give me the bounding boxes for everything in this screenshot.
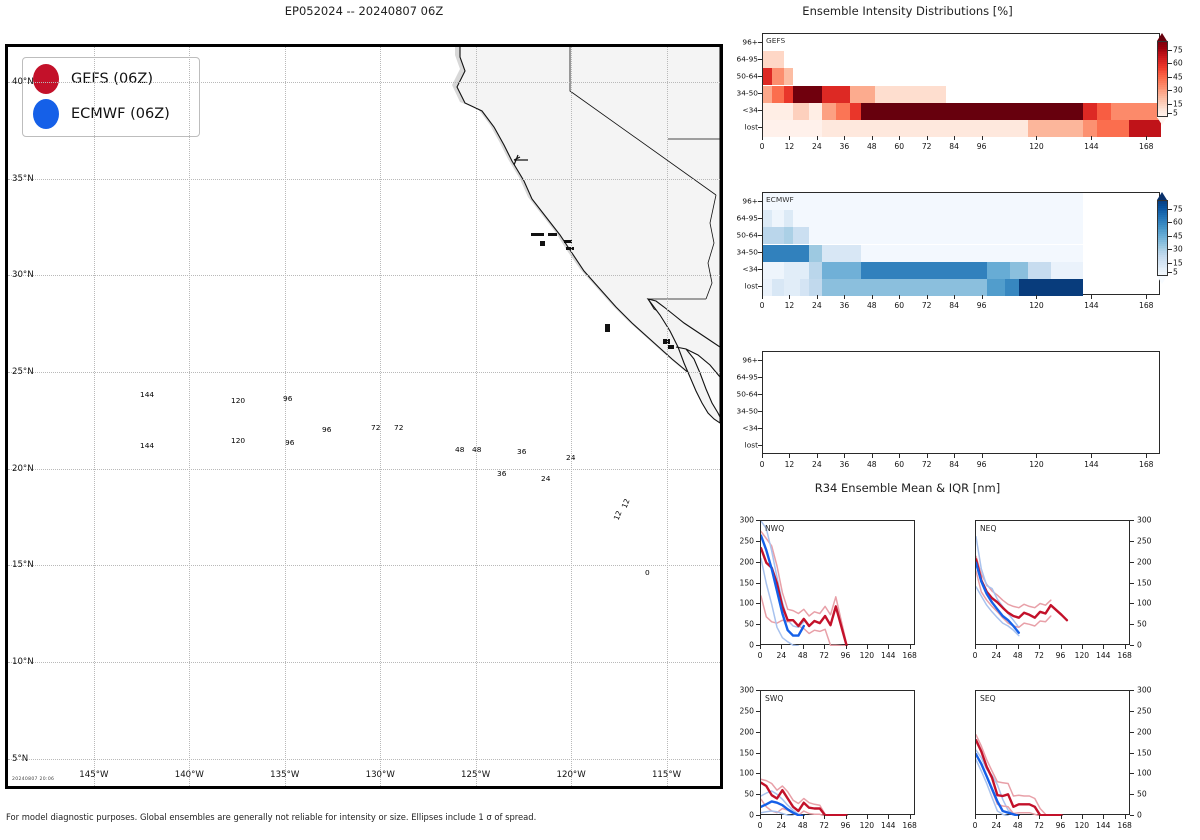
r34-y-label: 50 bbox=[732, 620, 754, 629]
r34-y-tick bbox=[756, 711, 760, 712]
heatmap-x-label: 96 bbox=[977, 460, 987, 469]
heatmap-x-label: 84 bbox=[949, 460, 959, 469]
r34-y-label: 300 bbox=[1137, 516, 1152, 525]
heatmap-cell bbox=[850, 86, 875, 103]
heatmap-x-tick bbox=[899, 295, 900, 299]
heatmap-x-tick bbox=[1036, 136, 1037, 140]
r34-y-tick bbox=[1130, 690, 1134, 691]
heatmap-x-label: 144 bbox=[1084, 301, 1099, 310]
r34-x-label: 144 bbox=[881, 651, 896, 660]
heatmap-x-label: 72 bbox=[922, 460, 932, 469]
r34-y-tick bbox=[756, 753, 760, 754]
heatmap-model-tag: ECMWF bbox=[766, 195, 794, 204]
heatmap-cell bbox=[793, 210, 1083, 227]
r34-x-label: 120 bbox=[860, 821, 875, 830]
r34-x-label: 96 bbox=[841, 821, 851, 830]
heatmap-x-label: 120 bbox=[1029, 142, 1044, 151]
heatmap-cell bbox=[1097, 103, 1111, 120]
heatmap-x-label: 36 bbox=[840, 460, 850, 469]
heatmap-x-tick bbox=[899, 136, 900, 140]
heatmap-x-label: 60 bbox=[894, 301, 904, 310]
r34-x-tick bbox=[1082, 815, 1083, 819]
heatmap-x-tick bbox=[762, 454, 763, 458]
r34-quadrant-neq[interactable]: NEQ bbox=[975, 520, 1130, 645]
heatmap-cell bbox=[1083, 120, 1097, 137]
track-map-panel[interactable]: 144 144 120 120 96 96 96 72 72 48 48 36 … bbox=[5, 44, 723, 789]
heatmap-cell bbox=[875, 86, 946, 103]
r34-x-label: 144 bbox=[881, 821, 896, 830]
map-lon-label: 120°W bbox=[557, 770, 586, 780]
heatmap-x-tick bbox=[762, 295, 763, 299]
heatmap-y-label: 96+ bbox=[720, 196, 758, 205]
r34-x-label: 24 bbox=[777, 821, 787, 830]
heatmap-x-label: 36 bbox=[840, 301, 850, 310]
intensity-colorbar bbox=[1157, 41, 1168, 117]
r34-line-gefs-mean bbox=[976, 559, 1067, 620]
r34-x-tick bbox=[1103, 815, 1104, 819]
heatmap-y-label: <34 bbox=[720, 265, 758, 274]
map-gridline-lat bbox=[8, 565, 720, 566]
map-lat-label: 10°N bbox=[12, 657, 34, 667]
heatmap-y-label: 34-50 bbox=[720, 248, 758, 257]
heatmap-cell bbox=[772, 68, 783, 85]
heatmap-cell bbox=[861, 262, 987, 279]
r34-y-label: 0 bbox=[1137, 641, 1142, 650]
r34-x-label: 48 bbox=[1013, 651, 1023, 660]
r34-x-label: 0 bbox=[758, 821, 763, 830]
heatmap-y-label: 64-95 bbox=[720, 54, 758, 63]
r34-x-label: 168 bbox=[1117, 821, 1132, 830]
heatmap-cell bbox=[772, 210, 783, 227]
heatmap-y-label: 64-95 bbox=[720, 372, 758, 381]
r34-x-label: 48 bbox=[798, 821, 808, 830]
r34-y-label: 50 bbox=[1137, 790, 1147, 799]
heatmap-x-label: 144 bbox=[1084, 460, 1099, 469]
ellipse-label-24b: 24 bbox=[540, 474, 551, 483]
heatmap-y-tick bbox=[758, 235, 762, 236]
dashboard-root: EP052024 -- 20240807 06Z bbox=[0, 0, 1200, 840]
intensity-heatmap-gefs[interactable]: GEFS bbox=[762, 33, 1160, 136]
r34-y-label: 0 bbox=[732, 811, 754, 820]
gefs-swatch-icon bbox=[33, 64, 59, 94]
heatmap-x-label: 84 bbox=[949, 301, 959, 310]
colorbar-extend-up-icon bbox=[1157, 192, 1167, 200]
heatmap-x-label: 0 bbox=[760, 460, 765, 469]
ellipse-label-48a: 48 bbox=[454, 445, 465, 454]
colorbar-tick bbox=[1168, 63, 1172, 64]
heatmap-x-label: 168 bbox=[1139, 460, 1154, 469]
heatmap-x-tick bbox=[1091, 454, 1092, 458]
heatmap-cell bbox=[861, 245, 1083, 262]
ellipse-label-0: 0 bbox=[644, 568, 651, 577]
quadrant-series bbox=[976, 521, 1131, 646]
r34-y-tick bbox=[756, 520, 760, 521]
map-gridline-lon bbox=[189, 47, 190, 786]
intensity-heatmap-empty[interactable] bbox=[762, 351, 1160, 454]
r34-x-label: 24 bbox=[992, 651, 1002, 660]
heatmap-x-tick bbox=[927, 136, 928, 140]
map-gridline-lon bbox=[667, 47, 668, 786]
quadrant-label: NWQ bbox=[765, 524, 784, 533]
r34-y-tick bbox=[1130, 773, 1134, 774]
quadrant-series bbox=[761, 691, 916, 816]
heatmap-x-tick bbox=[817, 295, 818, 299]
heatmap-cell bbox=[822, 86, 849, 103]
heatmap-y-tick bbox=[758, 201, 762, 202]
r34-quadrant-swq[interactable]: SWQ bbox=[760, 690, 915, 815]
r34-y-tick bbox=[1130, 815, 1134, 816]
r34-y-label: 200 bbox=[1137, 557, 1152, 566]
colorbar-label: 30 bbox=[1173, 245, 1183, 254]
map-lat-label: 25°N bbox=[12, 367, 34, 377]
heatmap-x-label: 120 bbox=[1029, 301, 1044, 310]
heatmap-y-label: lost bbox=[720, 282, 758, 291]
r34-y-label: 200 bbox=[1137, 727, 1152, 736]
ellipse-label-144a: 144 bbox=[139, 390, 155, 399]
r34-y-label: 300 bbox=[732, 516, 754, 525]
heatmap-y-tick bbox=[758, 76, 762, 77]
r34-x-tick bbox=[1018, 645, 1019, 649]
heatmap-cell bbox=[763, 210, 772, 227]
ellipse-label-36b: 36 bbox=[496, 469, 507, 478]
ellipse-label-36a: 36 bbox=[516, 447, 527, 456]
heatmap-cell bbox=[1010, 262, 1028, 279]
heatmap-x-tick bbox=[1036, 454, 1037, 458]
r34-x-label: 24 bbox=[777, 651, 787, 660]
heatmap-y-label: 34-50 bbox=[720, 407, 758, 416]
quadrant-series bbox=[761, 521, 916, 646]
heatmap-cell bbox=[784, 227, 793, 244]
map-lat-label: 35°N bbox=[12, 174, 34, 184]
r34-x-label: 0 bbox=[758, 651, 763, 660]
r34-y-label: 0 bbox=[732, 641, 754, 650]
heatmap-cell bbox=[763, 227, 784, 244]
heatmap-y-tick bbox=[758, 42, 762, 43]
heatmap-cell bbox=[793, 227, 809, 244]
map-gridline-lat bbox=[8, 179, 720, 180]
map-lat-label: 30°N bbox=[12, 270, 34, 280]
heatmap-cell bbox=[763, 68, 772, 85]
heatmap-cell bbox=[822, 279, 987, 296]
heatmap-y-tick bbox=[758, 110, 762, 111]
r34-y-tick bbox=[1130, 711, 1134, 712]
heatmap-x-label: 84 bbox=[949, 142, 959, 151]
r34-y-label: 200 bbox=[732, 557, 754, 566]
map-gridline-lon bbox=[94, 47, 95, 786]
r34-y-tick bbox=[1130, 541, 1134, 542]
heatmap-x-tick bbox=[1146, 454, 1147, 458]
colorbar-tick bbox=[1168, 77, 1172, 78]
heatmap-x-label: 24 bbox=[812, 301, 822, 310]
heatmap-cell bbox=[1051, 262, 1083, 279]
r34-y-tick bbox=[1130, 732, 1134, 733]
heatmap-cell bbox=[784, 68, 793, 85]
r34-y-label: 300 bbox=[1137, 686, 1152, 695]
r34-y-tick bbox=[756, 624, 760, 625]
heatmap-y-label: 96+ bbox=[720, 37, 758, 46]
heatmap-cell bbox=[987, 262, 1010, 279]
intensity-heatmap-ecmwf[interactable]: ECMWF bbox=[762, 192, 1160, 295]
intensity-colorbar bbox=[1157, 200, 1168, 276]
r34-y-tick bbox=[756, 603, 760, 604]
r34-y-tick bbox=[1130, 794, 1134, 795]
heatmap-x-label: 72 bbox=[922, 301, 932, 310]
r34-y-tick bbox=[1130, 562, 1134, 563]
r34-x-tick bbox=[867, 815, 868, 819]
ellipse-label-48b: 48 bbox=[471, 445, 482, 454]
heatmap-x-label: 168 bbox=[1139, 142, 1154, 151]
heatmap-cell bbox=[836, 103, 850, 120]
heatmap-x-tick bbox=[927, 454, 928, 458]
r34-y-label: 100 bbox=[1137, 599, 1152, 608]
heatmap-x-label: 60 bbox=[894, 142, 904, 151]
heatmap-cell bbox=[809, 103, 823, 120]
r34-y-tick bbox=[1130, 645, 1134, 646]
heatmap-cell bbox=[763, 103, 793, 120]
heatmap-x-label: 12 bbox=[785, 301, 795, 310]
heatmap-x-tick bbox=[789, 454, 790, 458]
r34-line-gefs-lower bbox=[976, 571, 1051, 627]
r34-y-tick bbox=[756, 690, 760, 691]
heatmap-x-tick bbox=[872, 454, 873, 458]
ellipse-label-96c: 96 bbox=[321, 425, 332, 434]
legend-item-ecmwf: ECMWF (06Z) bbox=[33, 99, 170, 129]
r34-x-label: 48 bbox=[798, 651, 808, 660]
heatmap-y-label: 64-95 bbox=[720, 213, 758, 222]
r34-x-label: 168 bbox=[902, 651, 917, 660]
colorbar-label: 5 bbox=[1173, 267, 1178, 276]
heatmap-cell bbox=[1097, 120, 1129, 137]
r34-section-title: R34 Ensemble Mean & IQR [nm] bbox=[735, 481, 1080, 495]
heatmap-x-tick bbox=[844, 295, 845, 299]
r34-y-tick bbox=[756, 732, 760, 733]
map-gridline-lat bbox=[8, 469, 720, 470]
r34-x-tick bbox=[1082, 645, 1083, 649]
heatmap-cell bbox=[822, 245, 861, 262]
r34-x-label: 96 bbox=[1056, 821, 1066, 830]
r34-x-tick bbox=[1125, 815, 1126, 819]
r34-x-label: 24 bbox=[992, 821, 1002, 830]
r34-y-label: 250 bbox=[732, 706, 754, 715]
r34-x-tick bbox=[760, 645, 761, 649]
r34-x-tick bbox=[910, 815, 911, 819]
ellipse-label-120b: 120 bbox=[230, 436, 246, 445]
heatmap-cell bbox=[809, 262, 823, 279]
heatmap-y-label: 50-64 bbox=[720, 230, 758, 239]
r34-x-tick bbox=[1039, 645, 1040, 649]
r34-x-tick bbox=[760, 815, 761, 819]
r34-x-tick bbox=[975, 645, 976, 649]
heatmap-y-tick bbox=[758, 286, 762, 287]
map-gridline-lon bbox=[285, 47, 286, 786]
colorbar-label: 45 bbox=[1173, 231, 1183, 240]
heatmap-cell bbox=[822, 103, 836, 120]
map-lon-label: 115°W bbox=[652, 770, 681, 780]
r34-x-label: 144 bbox=[1096, 651, 1111, 660]
heatmap-cell bbox=[763, 262, 784, 279]
r34-line-ecmwf-lower bbox=[761, 811, 793, 816]
heatmap-x-tick bbox=[762, 136, 763, 140]
heatmap-y-label: 96+ bbox=[720, 355, 758, 364]
r34-x-label: 144 bbox=[1096, 821, 1111, 830]
r34-x-label: 48 bbox=[1013, 821, 1023, 830]
quadrant-label: SWQ bbox=[765, 694, 783, 703]
r34-y-tick bbox=[1130, 583, 1134, 584]
heatmap-y-tick bbox=[758, 428, 762, 429]
map-lat-label: 5°N bbox=[12, 754, 28, 764]
r34-x-tick bbox=[910, 645, 911, 649]
r34-x-tick bbox=[888, 815, 889, 819]
heatmap-y-label: lost bbox=[720, 441, 758, 450]
colorbar-tick bbox=[1168, 249, 1172, 250]
r34-y-label: 150 bbox=[732, 748, 754, 757]
page-title: EP052024 -- 20240807 06Z bbox=[0, 4, 728, 18]
heatmap-x-tick bbox=[1146, 295, 1147, 299]
colorbar-tick bbox=[1168, 90, 1172, 91]
r34-y-label: 50 bbox=[1137, 620, 1147, 629]
heatmap-cell bbox=[763, 279, 772, 296]
map-gridline-lat bbox=[8, 759, 720, 760]
r34-x-tick bbox=[996, 815, 997, 819]
heatmap-x-label: 96 bbox=[977, 301, 987, 310]
r34-x-label: 168 bbox=[902, 821, 917, 830]
heatmap-x-tick bbox=[872, 136, 873, 140]
legend-label-gefs: GEFS (06Z) bbox=[71, 71, 153, 87]
heatmap-y-tick bbox=[758, 269, 762, 270]
heatmap-cell bbox=[800, 279, 809, 296]
heatmap-cell bbox=[784, 262, 809, 279]
colorbar-extend-down-icon bbox=[1157, 117, 1167, 125]
r34-y-tick bbox=[756, 541, 760, 542]
map-gridline-lon bbox=[571, 47, 572, 786]
heatmap-x-label: 168 bbox=[1139, 301, 1154, 310]
r34-y-tick bbox=[1130, 520, 1134, 521]
r34-y-label: 250 bbox=[1137, 706, 1152, 715]
heatmap-cell bbox=[763, 193, 1083, 210]
heatmap-x-tick bbox=[817, 454, 818, 458]
ellipse-label-144b: 144 bbox=[139, 441, 155, 450]
heatmap-cell bbox=[1028, 262, 1051, 279]
heatmap-y-label: <34 bbox=[720, 424, 758, 433]
r34-x-tick bbox=[1103, 645, 1104, 649]
colorbar-label: 5 bbox=[1173, 108, 1178, 117]
heatmap-cell bbox=[784, 279, 800, 296]
heatmap-y-tick bbox=[758, 93, 762, 94]
heatmap-x-label: 120 bbox=[1029, 460, 1044, 469]
colorbar-tick bbox=[1168, 263, 1172, 264]
r34-x-tick bbox=[888, 645, 889, 649]
r34-quadrant-seq[interactable]: SEQ bbox=[975, 690, 1130, 815]
heatmap-y-tick bbox=[758, 445, 762, 446]
intensity-section-title: Ensemble Intensity Distributions [%] bbox=[735, 4, 1080, 18]
heatmap-x-tick bbox=[872, 295, 873, 299]
legend-label-ecmwf: ECMWF (06Z) bbox=[71, 106, 170, 122]
map-lat-label: 15°N bbox=[12, 560, 34, 570]
heatmap-x-tick bbox=[1036, 295, 1037, 299]
heatmap-x-tick bbox=[1091, 295, 1092, 299]
heatmap-x-label: 96 bbox=[977, 142, 987, 151]
r34-y-label: 100 bbox=[732, 769, 754, 778]
r34-y-tick bbox=[1130, 753, 1134, 754]
r34-x-label: 72 bbox=[1034, 651, 1044, 660]
r34-x-tick bbox=[846, 645, 847, 649]
heatmap-x-tick bbox=[982, 454, 983, 458]
quadrant-series bbox=[976, 691, 1131, 816]
r34-y-label: 250 bbox=[1137, 536, 1152, 545]
r34-x-tick bbox=[1061, 645, 1062, 649]
r34-x-tick bbox=[781, 815, 782, 819]
heatmap-cell bbox=[763, 51, 784, 68]
r34-y-label: 50 bbox=[732, 790, 754, 799]
heatmap-cell bbox=[861, 103, 1083, 120]
colorbar-extend-down-icon bbox=[1157, 276, 1167, 284]
heatmap-x-label: 72 bbox=[922, 142, 932, 151]
map-gridline-lat bbox=[8, 82, 720, 83]
r34-y-label: 150 bbox=[732, 578, 754, 587]
heatmap-cell bbox=[1005, 279, 1019, 296]
heatmap-cell bbox=[809, 245, 823, 262]
colorbar-label: 15 bbox=[1173, 99, 1183, 108]
heatmap-cell bbox=[784, 210, 793, 227]
heatmap-x-label: 0 bbox=[760, 142, 765, 151]
heatmap-y-label: lost bbox=[720, 123, 758, 132]
heatmap-x-label: 36 bbox=[840, 142, 850, 151]
colorbar-tick bbox=[1168, 104, 1172, 105]
heatmap-x-label: 24 bbox=[812, 460, 822, 469]
r34-y-tick bbox=[756, 794, 760, 795]
r34-x-label: 96 bbox=[1056, 651, 1066, 660]
heatmap-x-label: 144 bbox=[1084, 142, 1099, 151]
colorbar-label: 30 bbox=[1173, 86, 1183, 95]
heatmap-model-tag: GEFS bbox=[766, 36, 785, 45]
colorbar-label: 60 bbox=[1173, 218, 1183, 227]
map-lon-label: 130°W bbox=[366, 770, 395, 780]
r34-x-tick bbox=[803, 815, 804, 819]
map-legend: GEFS (06Z) ECMWF (06Z) bbox=[22, 57, 200, 137]
heatmap-cell bbox=[763, 120, 822, 137]
colorbar-label: 75 bbox=[1173, 204, 1183, 213]
ellipse-label-120a: 120 bbox=[230, 396, 246, 405]
r34-x-label: 96 bbox=[841, 651, 851, 660]
r34-x-tick bbox=[803, 645, 804, 649]
map-lon-label: 125°W bbox=[461, 770, 490, 780]
colorbar-tick bbox=[1168, 50, 1172, 51]
heatmap-x-tick bbox=[844, 454, 845, 458]
heatmap-x-tick bbox=[1091, 136, 1092, 140]
r34-y-label: 150 bbox=[1137, 748, 1152, 757]
heatmap-x-tick bbox=[982, 136, 983, 140]
heatmap-cell bbox=[1019, 279, 1083, 296]
heatmap-x-tick bbox=[954, 295, 955, 299]
heatmap-cell bbox=[772, 279, 783, 296]
heatmap-y-tick bbox=[758, 127, 762, 128]
heatmap-cell bbox=[772, 86, 783, 103]
colorbar-tick bbox=[1168, 113, 1172, 114]
r34-x-tick bbox=[781, 645, 782, 649]
r34-x-tick bbox=[867, 645, 868, 649]
heatmap-x-tick bbox=[789, 295, 790, 299]
quadrant-label: NEQ bbox=[980, 524, 996, 533]
r34-line-gefs-mean bbox=[976, 740, 1062, 815]
r34-x-label: 72 bbox=[819, 821, 829, 830]
r34-x-tick bbox=[824, 645, 825, 649]
heatmap-cell bbox=[763, 245, 809, 262]
r34-y-tick bbox=[756, 562, 760, 563]
r34-y-tick bbox=[756, 583, 760, 584]
r34-x-label: 72 bbox=[819, 651, 829, 660]
r34-quadrant-nwq[interactable]: NWQ bbox=[760, 520, 915, 645]
footer-disclaimer: For model diagnostic purposes. Global en… bbox=[6, 812, 536, 822]
